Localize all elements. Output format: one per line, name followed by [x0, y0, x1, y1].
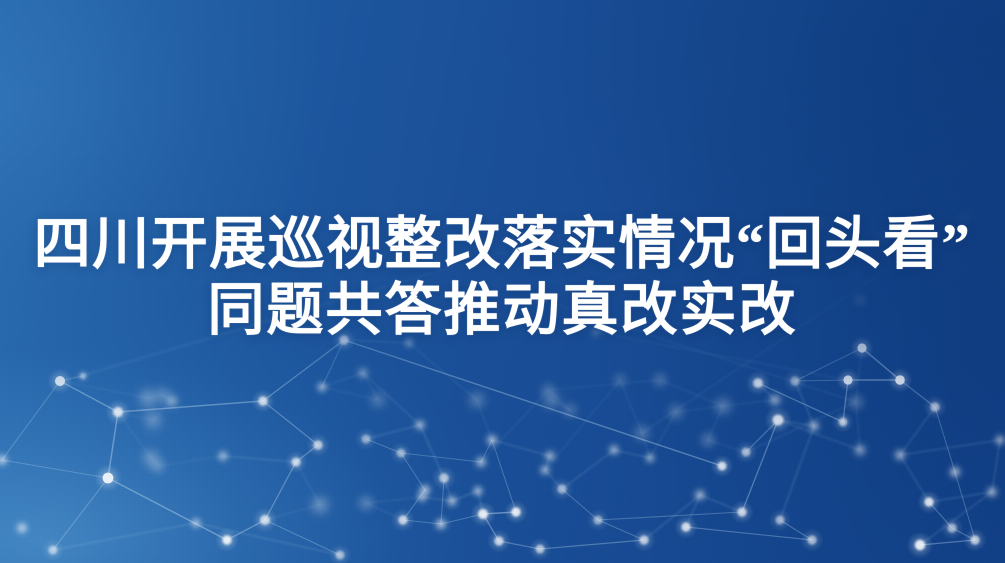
- background-noise-texture: [0, 0, 1005, 563]
- news-banner: 四川开展巡视整改落实情况“回头看” 同题共答推动真改实改: [0, 0, 1005, 563]
